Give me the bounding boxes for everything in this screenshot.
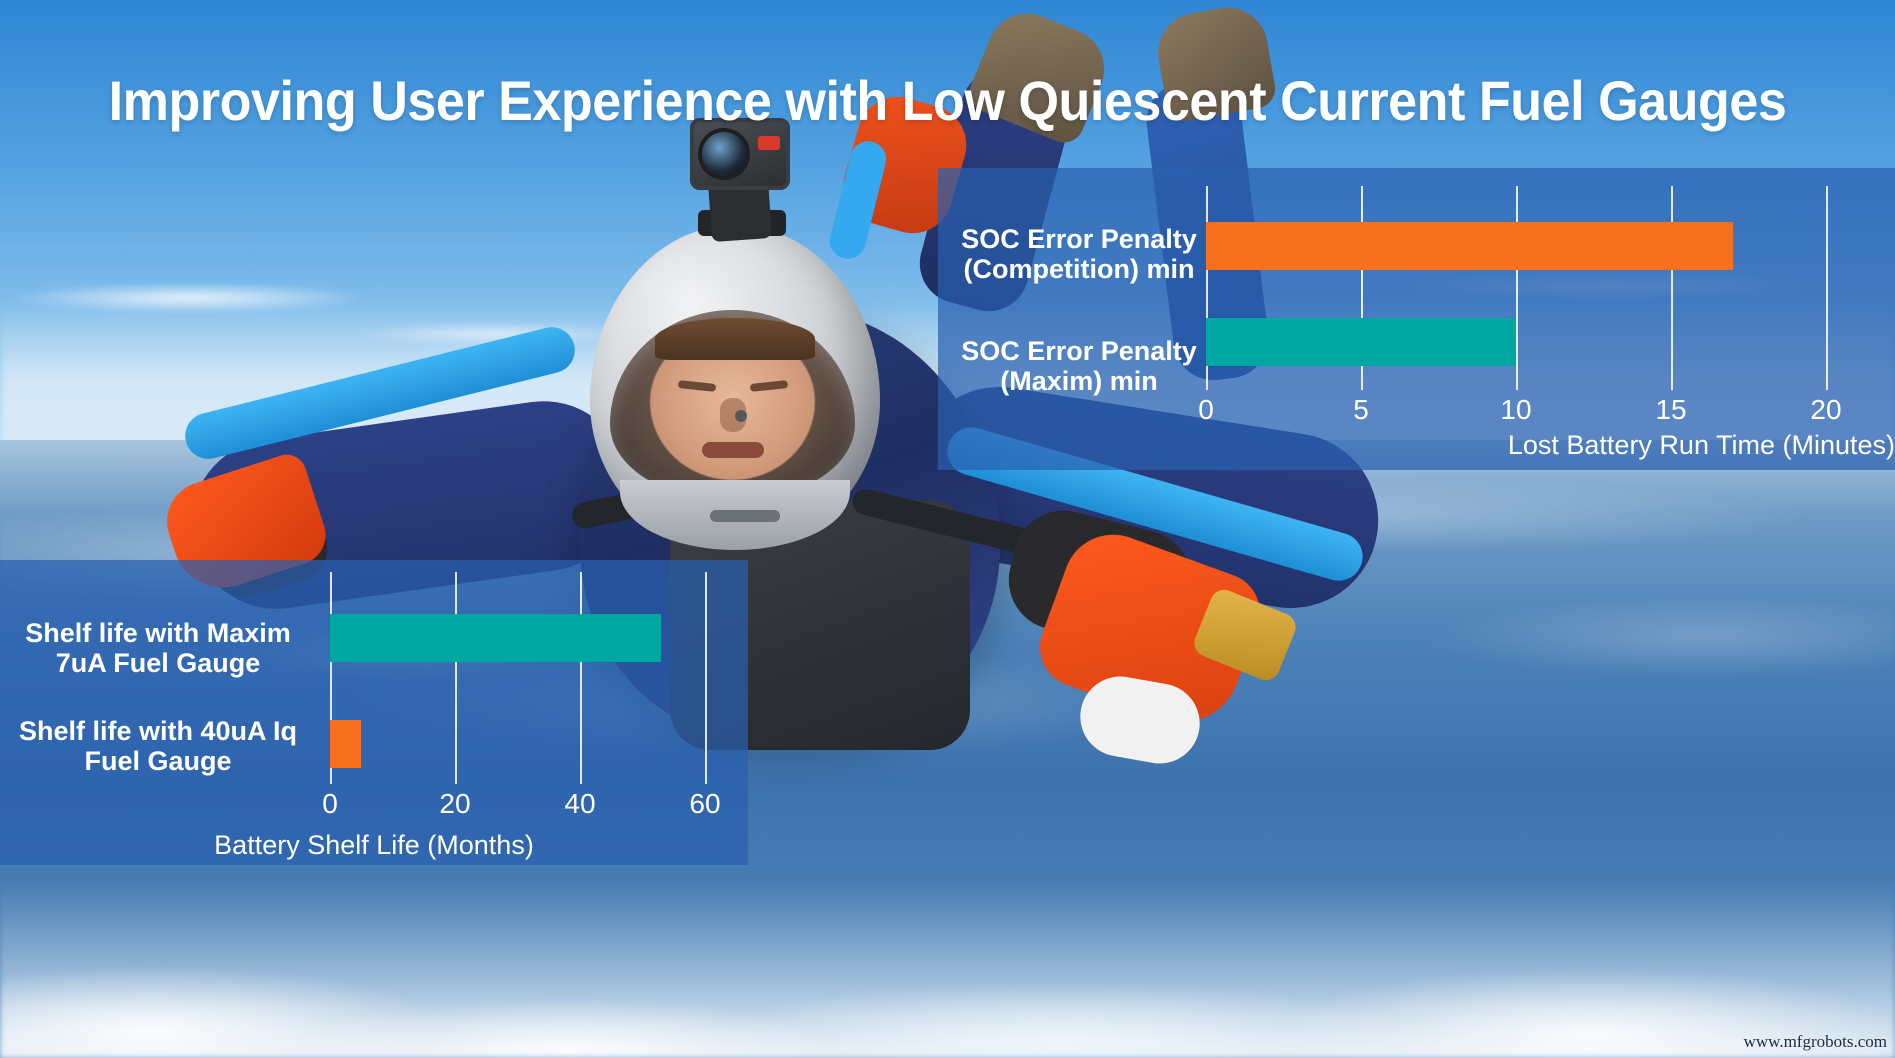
x-axis-title: Battery Shelf Life (Months)	[0, 830, 748, 861]
gridline	[1826, 186, 1828, 390]
cloud-bank	[0, 878, 1895, 1058]
gridline	[1516, 186, 1518, 390]
gridline	[580, 572, 582, 784]
plot-area	[1206, 186, 1826, 390]
hair	[655, 318, 815, 360]
x-tick-label: 10	[1500, 394, 1531, 426]
x-tick-label: 20	[1810, 394, 1841, 426]
bar-1	[330, 720, 361, 768]
x-tick-label: 0	[322, 788, 338, 820]
gridline	[455, 572, 457, 784]
x-tick-label: 15	[1655, 394, 1686, 426]
x-tick-label: 40	[564, 788, 595, 820]
bar-chart-battery-shelf-life: Shelf life with Maxim 7uA Fuel Gauge She…	[0, 560, 748, 865]
plot-area	[330, 572, 705, 784]
bar-chart-soc-error-penalty: SOC Error Penalty (Competition) min SOC …	[938, 168, 1895, 470]
camera-lens-icon	[702, 132, 746, 176]
chart-panel-battery-shelf-life: Shelf life with Maxim 7uA Fuel Gauge She…	[0, 560, 748, 865]
helmet-chin-vent	[710, 510, 780, 522]
x-tick-label: 20	[439, 788, 470, 820]
bar-0	[330, 614, 661, 662]
category-label-40ua-iq: Shelf life with 40uA Iq Fuel Gauge	[8, 716, 308, 776]
chart-panel-soc-error-penalty: SOC Error Penalty (Competition) min SOC …	[938, 168, 1895, 470]
mouth	[702, 442, 764, 458]
x-tick-label: 0	[1198, 394, 1214, 426]
page-title: Improving User Experience with Low Quies…	[66, 68, 1828, 133]
category-label-maxim: SOC Error Penalty (Maxim) min	[948, 336, 1210, 396]
x-axis-title: Lost Battery Run Time (Minutes)	[938, 430, 1895, 461]
category-label-maxim-7ua: Shelf life with Maxim 7uA Fuel Gauge	[8, 618, 308, 678]
bar-1	[1206, 318, 1516, 366]
x-tick-label: 60	[689, 788, 720, 820]
bar-0	[1206, 222, 1733, 270]
watermark: www.mfgrobots.com	[1744, 1032, 1887, 1052]
gridline	[1671, 186, 1673, 390]
category-label-competition: SOC Error Penalty (Competition) min	[948, 224, 1210, 284]
gridline	[705, 572, 707, 784]
camera-accent	[758, 136, 780, 150]
helmet-screw-icon	[735, 410, 747, 422]
x-tick-label: 5	[1353, 394, 1369, 426]
